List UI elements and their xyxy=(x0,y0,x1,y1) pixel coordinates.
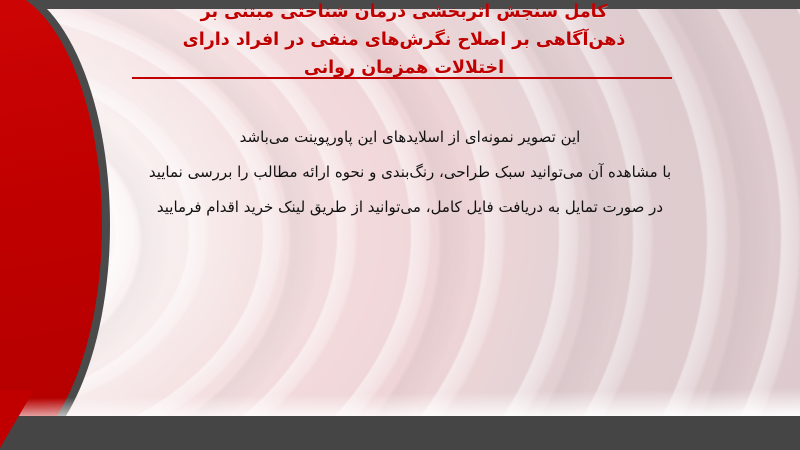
bottom-dark-band xyxy=(0,416,800,450)
slide-title-line-1: کامل سنجش اثربخشی درمان شناختی مبتنی بر xyxy=(104,0,704,26)
presentation-slide: کامل سنجش اثربخشی درمان شناختی مبتنی بر … xyxy=(0,0,800,450)
title-red-rule xyxy=(132,77,672,79)
slide-body-line-2: با مشاهده آن می‌توانید سبک طراحی، رنگ‌بن… xyxy=(80,155,740,190)
slide-body-line-3: در صورت تمایل به دریافت فایل کامل، می‌تو… xyxy=(80,190,740,225)
slide-title: کامل سنجش اثربخشی درمان شناختی مبتنی بر … xyxy=(104,0,704,82)
slide-title-line-2: ذهن‌آگاهی بر اصلاح نگرش‌های منفی در افرا… xyxy=(104,26,704,54)
slide-body-line-1: این تصویر نمونه‌ای از اسلایدهای این پاور… xyxy=(80,120,740,155)
slide-body: این تصویر نمونه‌ای از اسلایدهای این پاور… xyxy=(80,120,740,225)
red-ellipse-accent xyxy=(0,0,102,450)
